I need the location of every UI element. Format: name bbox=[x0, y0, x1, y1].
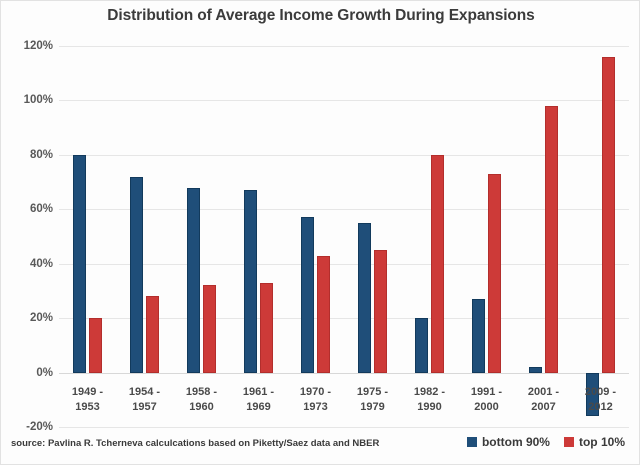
bar-bottom-90[interactable] bbox=[187, 188, 200, 373]
legend-label: top 10% bbox=[579, 435, 625, 449]
bar-top-10[interactable] bbox=[260, 283, 273, 373]
x-axis-tick-line: 1958 - bbox=[171, 385, 233, 400]
bar-top-10[interactable] bbox=[89, 318, 102, 372]
x-axis-tick-label: 1975 -1979 bbox=[342, 385, 404, 415]
x-axis-tick-line: 1954 - bbox=[114, 385, 176, 400]
legend-item-top-10[interactable]: top 10% bbox=[564, 435, 625, 449]
y-axis-tick-label: 60% bbox=[1, 203, 53, 215]
bar-bottom-90[interactable] bbox=[130, 177, 143, 373]
bar-bottom-90[interactable] bbox=[415, 318, 428, 372]
bar-top-10[interactable] bbox=[488, 174, 501, 373]
y-axis-tick-label: 40% bbox=[1, 258, 53, 270]
gridline bbox=[59, 209, 629, 210]
x-axis-tick-line: 2001 - bbox=[513, 385, 575, 400]
bar-bottom-90[interactable] bbox=[358, 223, 371, 373]
x-axis-tick-line: 2012 bbox=[570, 400, 632, 415]
x-axis-tick-line: 2000 bbox=[456, 400, 518, 415]
bar-top-10[interactable] bbox=[317, 256, 330, 373]
legend-item-bottom-90[interactable]: bottom 90% bbox=[467, 435, 550, 449]
bar-bottom-90[interactable] bbox=[244, 190, 257, 372]
x-axis-tick-line: 1991 - bbox=[456, 385, 518, 400]
gridline bbox=[59, 155, 629, 156]
bar-bottom-90[interactable] bbox=[301, 217, 314, 372]
bar-bottom-90[interactable] bbox=[73, 155, 86, 373]
source-note: source: Pavlina R. Tcherneva calculcatio… bbox=[11, 438, 379, 449]
y-axis-tick-label: 20% bbox=[1, 312, 53, 324]
legend-swatch-icon bbox=[467, 437, 477, 447]
x-axis-tick-label: 2009 -2012 bbox=[570, 385, 632, 415]
x-axis-tick-line: 1960 bbox=[171, 400, 233, 415]
gridline bbox=[59, 100, 629, 101]
legend-label: bottom 90% bbox=[482, 435, 550, 449]
y-axis-tick-label: 80% bbox=[1, 149, 53, 161]
y-axis-tick-label: -20% bbox=[1, 421, 53, 433]
x-axis-tick-label: 1982 -1990 bbox=[399, 385, 461, 415]
chart-title: Distribution of Average Income Growth Du… bbox=[1, 7, 640, 25]
x-axis-tick-line: 1973 bbox=[285, 400, 347, 415]
plot-area bbox=[59, 46, 629, 427]
x-axis-tick-label: 1949 -1953 bbox=[57, 385, 119, 415]
bar-top-10[interactable] bbox=[374, 250, 387, 372]
x-axis-tick-line: 2009 - bbox=[570, 385, 632, 400]
bar-bottom-90[interactable] bbox=[472, 299, 485, 372]
x-axis-tick-label: 1970 -1973 bbox=[285, 385, 347, 415]
gridline bbox=[59, 427, 629, 428]
bar-top-10[interactable] bbox=[146, 296, 159, 372]
x-axis-tick-line: 1982 - bbox=[399, 385, 461, 400]
gridline bbox=[59, 46, 629, 47]
x-axis-tick-line: 1957 bbox=[114, 400, 176, 415]
x-axis-tick-label: 1958 -1960 bbox=[171, 385, 233, 415]
x-axis-tick-line: 1953 bbox=[57, 400, 119, 415]
x-axis-tick-line: 1970 - bbox=[285, 385, 347, 400]
gridline bbox=[59, 373, 629, 374]
bar-top-10[interactable] bbox=[602, 57, 615, 373]
x-axis-tick-label: 1991 -2000 bbox=[456, 385, 518, 415]
bar-top-10[interactable] bbox=[545, 106, 558, 373]
gridline bbox=[59, 318, 629, 319]
bar-top-10[interactable] bbox=[203, 285, 216, 372]
x-axis-tick-label: 1961 -1969 bbox=[228, 385, 290, 415]
chart-container: Distribution of Average Income Growth Du… bbox=[0, 0, 640, 465]
legend-swatch-icon bbox=[564, 437, 574, 447]
bar-top-10[interactable] bbox=[431, 155, 444, 373]
x-axis-tick-line: 1990 bbox=[399, 400, 461, 415]
chart-legend: bottom 90%top 10% bbox=[467, 435, 625, 449]
y-axis-tick-label: 120% bbox=[1, 40, 53, 52]
gridline bbox=[59, 264, 629, 265]
x-axis-tick-line: 1949 - bbox=[57, 385, 119, 400]
x-axis-tick-line: 1975 - bbox=[342, 385, 404, 400]
x-axis-tick-line: 1979 bbox=[342, 400, 404, 415]
y-axis-tick-label: 0% bbox=[1, 367, 53, 379]
y-axis-tick-label: 100% bbox=[1, 94, 53, 106]
x-axis-tick-line: 1961 - bbox=[228, 385, 290, 400]
x-axis-tick-label: 1954 -1957 bbox=[114, 385, 176, 415]
x-axis-tick-label: 2001 -2007 bbox=[513, 385, 575, 415]
x-axis-tick-line: 2007 bbox=[513, 400, 575, 415]
x-axis-tick-line: 1969 bbox=[228, 400, 290, 415]
bar-bottom-90[interactable] bbox=[529, 367, 542, 372]
